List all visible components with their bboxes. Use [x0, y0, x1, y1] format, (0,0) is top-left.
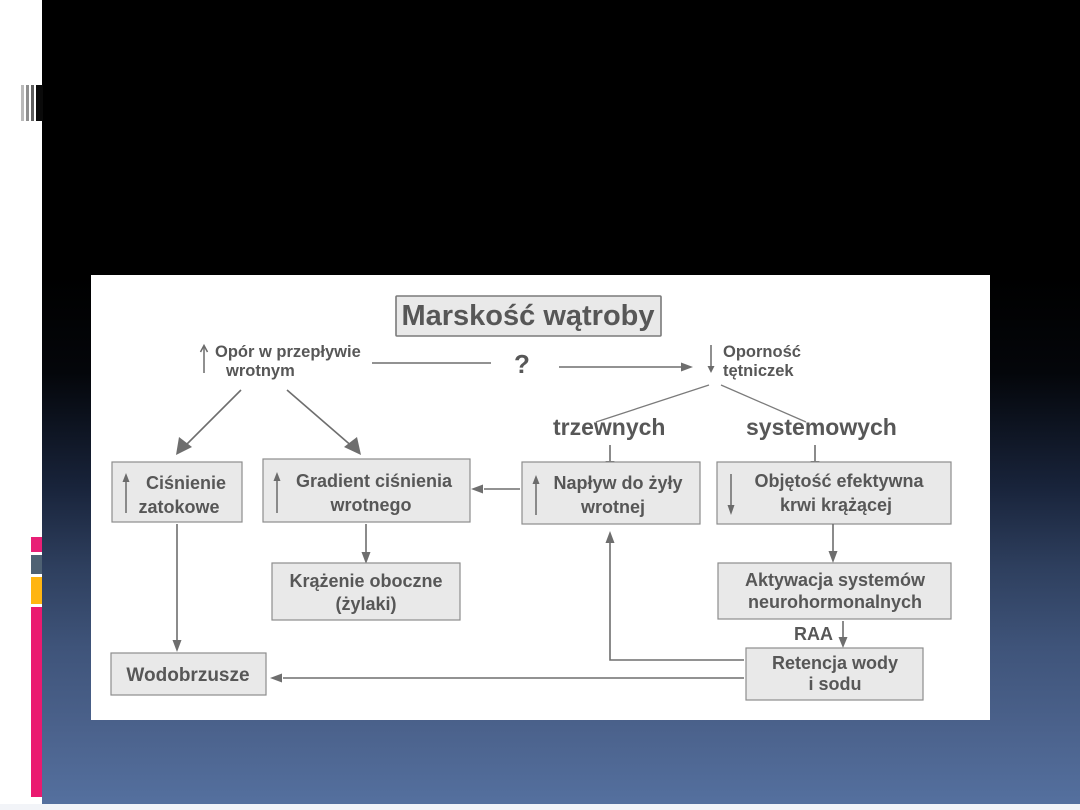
node-label-line1: Ciśnienie	[146, 473, 226, 493]
up-arrow-icon	[201, 346, 208, 374]
node-gradient-cisnienia-wrotnego: Gradient ciśnienia wrotnego	[263, 459, 470, 522]
decorative-stripes	[21, 85, 43, 121]
edge-oporwrotny-to-cisnienie	[176, 390, 241, 455]
diagram-title: Marskość wątroby	[396, 296, 661, 336]
down-arrow-icon	[708, 345, 715, 373]
node-retencja-wody-i-sodu: Retencja wody i sodu	[746, 648, 923, 700]
node-label-line1: Aktywacja systemów	[745, 570, 926, 590]
node-label-line2: krwi krążącej	[780, 495, 892, 515]
accent-bar-pink-long	[31, 607, 42, 797]
node-krazenie-oboczne-zylaki: Krążenie oboczne (żylaki)	[272, 563, 460, 620]
slide-bottom-strip	[0, 804, 1080, 810]
edge-oporwrotny-to-gradient	[287, 390, 361, 455]
node-label-line2: wrotnej	[580, 497, 645, 517]
top-right-label-line1: Oporność	[723, 343, 801, 361]
question-mark-label: ?	[514, 349, 530, 379]
top-right-label: Oporność tętniczek	[708, 343, 801, 380]
edge-aktywacja-to-retencja	[839, 621, 848, 648]
node-wodobrzusze: Wodobrzusze	[111, 653, 266, 695]
edge-question-to-right	[559, 363, 693, 372]
presentation-slide: Marskość wątroby Opór w przepływie wrotn…	[0, 0, 1080, 810]
edge-retencja-to-wodobrzusze	[270, 674, 744, 683]
branch-label-systemowych: systemowych	[746, 414, 897, 440]
node-label-line1: Objętość efektywna	[754, 471, 924, 491]
branch-label-trzewnych: trzewnych	[553, 414, 665, 440]
accent-bar-slate	[31, 555, 42, 574]
node-cisnienie-zatokowe: Ciśnienie zatokowe	[112, 462, 242, 522]
top-left-label-line1: Opór w przepływie	[215, 343, 361, 361]
node-aktywacja-systemow-neurohormonalnych: Aktywacja systemów neurohormonalnych	[718, 563, 951, 619]
node-label-line1: Gradient ciśnienia	[296, 471, 453, 491]
edge-cisnienie-to-wodobrzusze	[173, 524, 182, 652]
accent-bar-amber	[31, 577, 42, 604]
top-left-label: Opór w przepływie wrotnym	[201, 343, 361, 380]
diagram-panel: Marskość wątroby Opór w przepływie wrotn…	[91, 275, 990, 720]
accent-bar-pink-small	[31, 537, 42, 552]
node-label-line1: Krążenie oboczne	[289, 571, 442, 591]
node-naplyw-do-zyly-wrotnej: Napływ do żyły wrotnej	[522, 462, 700, 524]
edge-label-raa: RAA	[794, 624, 833, 644]
edge-objetosc-to-aktywacja	[829, 524, 838, 563]
node-label-line1: Retencja wody	[772, 653, 898, 673]
node-label-line2: (żylaki)	[335, 594, 396, 614]
diagram-title-text: Marskość wątroby	[401, 300, 654, 332]
edge-gradient-to-krazenie	[362, 524, 371, 564]
top-left-label-line2: wrotnym	[225, 362, 295, 380]
node-label-line2: neurohormonalnych	[748, 592, 922, 612]
node-label-line2: wrotnego	[330, 495, 412, 515]
node-objetosc-efektywna-krwi-krazacej: Objętość efektywna krwi krążącej	[717, 462, 951, 524]
edge-naplyw-to-gradient	[471, 485, 520, 494]
top-right-label-line2: tętniczek	[723, 362, 794, 380]
node-label-line1: Napływ do żyły	[553, 473, 682, 493]
node-label-line2: i sodu	[809, 674, 862, 694]
node-label-line2: zatokowe	[138, 497, 219, 517]
node-label-line1: Wodobrzusze	[126, 665, 249, 686]
